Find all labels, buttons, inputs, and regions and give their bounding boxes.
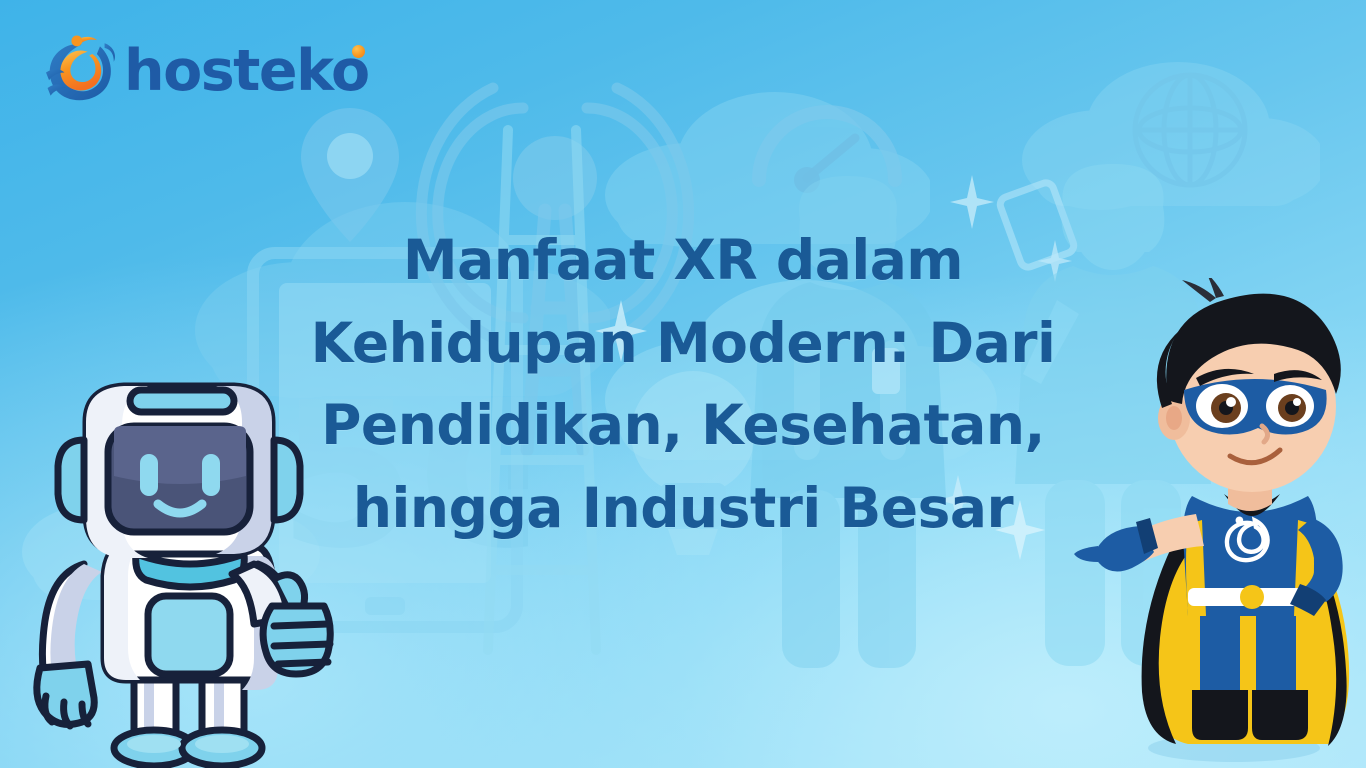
headline-line-4: hingga Industri Besar (273, 467, 1093, 550)
hosteko-logo[interactable]: hosteko (44, 34, 369, 108)
headline-line-1: Manfaat XR dalam (273, 219, 1093, 302)
hosteko-swirl-icon (44, 34, 122, 108)
page-title: Manfaat XR dalam Kehidupan Modern: Dari … (273, 219, 1093, 549)
superhero-mascot (1064, 278, 1364, 768)
logo-wordmark-text: hosteko (124, 38, 369, 104)
orange-dot-icon (352, 45, 365, 58)
headline-line-3: Pendidikan, Kesehatan, (273, 384, 1093, 467)
headline-line-2: Kehidupan Modern: Dari (273, 302, 1093, 385)
logo-wordmark: hosteko (124, 43, 369, 100)
banner-root: 5G (0, 0, 1366, 768)
robot-mascot (24, 368, 354, 768)
